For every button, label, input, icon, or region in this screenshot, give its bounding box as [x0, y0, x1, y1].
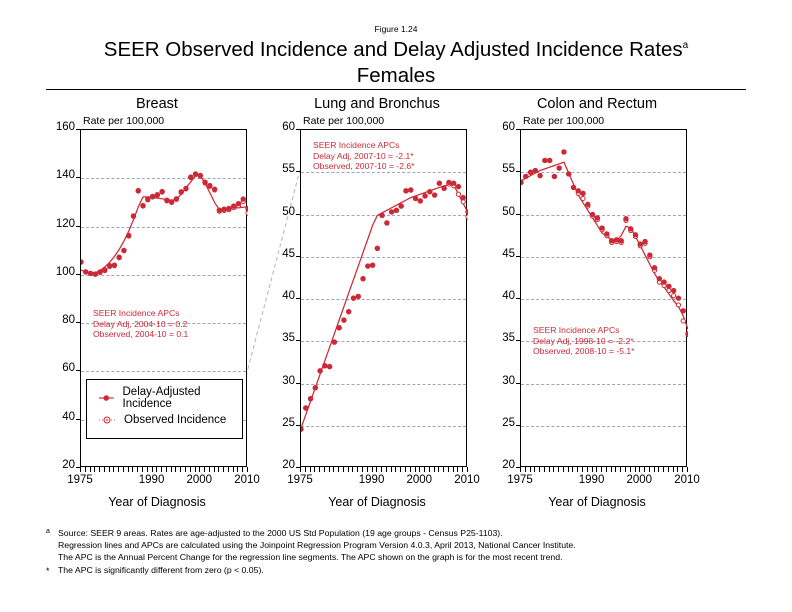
delay-adjusted-point: [231, 203, 236, 208]
delay-adjusted-point: [370, 263, 375, 268]
delay-adjusted-point: [207, 183, 212, 188]
footnote-line: *The APC is significantly different from…: [46, 564, 756, 576]
y-tick-label: 45: [267, 248, 295, 260]
delay-adjusted-point: [446, 180, 451, 185]
delay-adjusted-point: [303, 405, 308, 410]
x-tick-mark: [362, 467, 363, 472]
y-tick-label: 120: [47, 218, 75, 230]
delay-adjusted-point: [212, 186, 217, 191]
observed-point: [246, 211, 248, 215]
x-tick-mark: [534, 467, 535, 472]
delay-adjusted-point: [174, 196, 179, 201]
x-tick-mark: [199, 467, 200, 472]
y-tick-label: 160: [47, 121, 75, 133]
x-tick-mark: [668, 467, 669, 472]
delay-adjusted-point: [676, 295, 681, 300]
x-tick-mark: [443, 467, 444, 472]
chart-panel-breast: BreastRate per 100,000SEER Incidence APC…: [47, 96, 267, 516]
x-tick-mark: [247, 467, 248, 472]
x-tick-mark: [558, 467, 559, 472]
x-tick-mark: [175, 467, 176, 472]
delay-adjusted-point: [97, 269, 102, 274]
apc-annotation-line1: SEER Incidence APCs: [313, 140, 415, 151]
x-tick-label: 2010: [447, 474, 487, 486]
delay-adjusted-point: [88, 271, 93, 276]
plot-area: SEER Incidence APCsDelay Adj, 2007-10 = …: [300, 129, 467, 467]
x-tick-mark: [620, 467, 621, 472]
y-tick-label: 40: [47, 411, 75, 423]
delay-adjusted-point: [107, 263, 112, 268]
x-tick-mark: [453, 467, 454, 472]
delay-adjusted-point: [356, 294, 361, 299]
delay-adjusted-point: [638, 241, 643, 246]
x-tick-label: 2000: [399, 474, 439, 486]
delay-adjusted-point: [604, 231, 609, 236]
delay-adjusted-point: [537, 173, 542, 178]
delay-adjusted-point: [561, 149, 566, 154]
delay-adjusted-point: [422, 193, 427, 198]
y-axis-unit-label: Rate per 100,000: [83, 115, 164, 127]
y-tick-label: 40: [267, 290, 295, 302]
delay-adjusted-point: [595, 215, 600, 220]
x-tick-mark: [462, 467, 463, 472]
y-tick-mark: [76, 322, 80, 323]
y-tick-mark: [516, 171, 520, 172]
delay-adjusted-point: [365, 263, 370, 268]
delay-adjusted-point: [169, 199, 174, 204]
x-tick-mark: [654, 467, 655, 472]
x-tick-mark: [520, 467, 521, 472]
series-layer: [301, 130, 468, 468]
observed-point: [461, 200, 465, 204]
y-tick-label: 40: [487, 290, 515, 302]
x-tick-mark: [572, 467, 573, 472]
x-tick-mark: [233, 467, 234, 472]
x-tick-mark: [305, 467, 306, 472]
y-tick-mark: [76, 226, 80, 227]
delay-adjusted-point: [432, 192, 437, 197]
x-tick-mark: [601, 467, 602, 472]
x-tick-label: 1975: [500, 474, 540, 486]
y-tick-label: 30: [487, 375, 515, 387]
y-tick-mark: [516, 129, 520, 130]
x-tick-mark: [99, 467, 100, 472]
y-tick-label: 35: [487, 332, 515, 344]
x-tick-mark: [156, 467, 157, 472]
y-tick-mark: [516, 425, 520, 426]
title-line-2: Females: [357, 64, 436, 87]
x-tick-mark: [166, 467, 167, 472]
x-tick-mark: [209, 467, 210, 472]
x-tick-mark: [630, 467, 631, 472]
delay-adjusted-point: [193, 171, 198, 176]
delay-adjusted-point: [351, 295, 356, 300]
observed-point: [667, 288, 671, 292]
x-axis-title: Year of Diagnosis: [47, 495, 267, 509]
delay-adjusted-point: [155, 192, 160, 197]
y-tick-label: 45: [487, 248, 515, 260]
delay-adjusted-point: [159, 189, 164, 194]
delay-adjusted-point: [217, 207, 222, 212]
delay-adjusted-point: [126, 233, 131, 238]
observed-point: [672, 294, 676, 298]
x-axis-title: Year of Diagnosis: [267, 495, 487, 509]
delay-adjusted-point: [226, 206, 231, 211]
delay-adjusted-point: [360, 276, 365, 281]
x-tick-mark: [673, 467, 674, 472]
y-tick-mark: [76, 370, 80, 371]
delay-adjusted-point: [427, 189, 432, 194]
x-tick-mark: [544, 467, 545, 472]
x-tick-label: 2000: [619, 474, 659, 486]
delay-adjusted-point: [188, 174, 193, 179]
delay-adjusted-point: [164, 198, 169, 203]
x-tick-mark: [429, 467, 430, 472]
y-axis-unit-label: Rate per 100,000: [523, 115, 604, 127]
y-tick-label: 60: [47, 362, 75, 374]
footnote-line: The APC is the Annual Percent Change for…: [46, 551, 756, 563]
delay-adjusted-point: [408, 187, 413, 192]
delay-adjusted-point: [456, 184, 461, 189]
delay-adjusted-point: [313, 385, 318, 390]
delay-adjusted-point: [379, 213, 384, 218]
x-tick-mark: [357, 467, 358, 472]
apc-annotation-line2: Delay Adj, 1998-10 = -2.2*: [533, 336, 635, 347]
x-tick-mark: [343, 467, 344, 472]
y-axis-unit-label: Rate per 100,000: [303, 115, 384, 127]
x-tick-mark: [639, 467, 640, 472]
delay-adjusted-point: [671, 288, 676, 293]
delay-adjusted-point: [465, 209, 468, 214]
delay-adjusted-point: [523, 174, 528, 179]
x-tick-mark: [549, 467, 550, 472]
x-tick-mark: [635, 467, 636, 472]
delay-adjusted-point: [136, 188, 141, 193]
chart-title: Lung and Bronchus: [267, 96, 487, 112]
delay-adjusted-point: [384, 220, 389, 225]
y-tick-mark: [296, 340, 300, 341]
regression-line: [301, 185, 468, 428]
x-tick-mark: [381, 467, 382, 472]
delay-adjusted-point: [590, 212, 595, 217]
delay-adjusted-point: [221, 206, 226, 211]
delay-adjusted-point: [346, 309, 351, 314]
x-tick-mark: [214, 467, 215, 472]
y-tick-label: 60: [487, 121, 515, 133]
delay-adjusted-point: [652, 265, 657, 270]
y-tick-mark: [76, 274, 80, 275]
apc-annotation-line3: Observed, 2007-10 = -2.6*: [313, 161, 415, 172]
delay-adjusted-point: [399, 203, 404, 208]
x-tick-mark: [391, 467, 392, 472]
legend-label: Observed Incidence: [124, 414, 226, 426]
series-layer: [521, 130, 688, 468]
x-tick-mark: [314, 467, 315, 472]
x-tick-mark: [367, 467, 368, 472]
x-tick-mark: [419, 467, 420, 472]
y-tick-mark: [516, 383, 520, 384]
delay-adjusted-point: [327, 364, 332, 369]
header-divider: [46, 89, 746, 90]
x-tick-mark: [80, 467, 81, 472]
apc-annotation-line1: SEER Incidence APCs: [533, 325, 635, 336]
delay-adjusted-point: [585, 202, 590, 207]
x-tick-mark: [457, 467, 458, 472]
x-tick-mark: [395, 467, 396, 472]
footnote-text: Source: SEER 9 areas. Rates are age-adju…: [58, 528, 503, 538]
y-tick-mark: [516, 340, 520, 341]
delay-adjusted-point: [461, 195, 466, 200]
x-tick-mark: [180, 467, 181, 472]
y-tick-label: 35: [267, 332, 295, 344]
x-tick-mark: [582, 467, 583, 472]
x-tick-mark: [625, 467, 626, 472]
x-tick-mark: [611, 467, 612, 472]
x-tick-mark: [90, 467, 91, 472]
legend-item-observed[interactable]: Observed Incidence: [87, 409, 242, 431]
delay-adjusted-point: [576, 188, 581, 193]
delay-adjusted-point: [521, 180, 524, 185]
y-tick-label: 100: [47, 266, 75, 278]
x-tick-mark: [415, 467, 416, 472]
x-tick-mark: [237, 467, 238, 472]
x-tick-mark: [606, 467, 607, 472]
x-tick-mark: [142, 467, 143, 472]
x-tick-mark: [85, 467, 86, 472]
y-tick-mark: [296, 129, 300, 130]
delay-adjusted-point: [633, 232, 638, 237]
x-tick-mark: [592, 467, 593, 472]
delay-adjusted-point: [403, 188, 408, 193]
delay-adjusted-point: [317, 368, 322, 373]
x-tick-mark: [410, 467, 411, 472]
y-tick-label: 20: [267, 459, 295, 471]
delay-adjusted-point: [413, 196, 418, 201]
footnote-text: The APC is significantly different from …: [58, 565, 264, 575]
delay-adjusted-point: [666, 284, 671, 289]
x-tick-mark: [658, 467, 659, 472]
x-tick-mark: [400, 467, 401, 472]
delay-adjusted-point: [202, 179, 207, 184]
title-line-1: SEER Observed Incidence and Delay Adjust…: [104, 38, 683, 61]
chart-title: Breast: [47, 96, 267, 112]
delay-adjusted-point: [332, 339, 337, 344]
y-tick-mark: [516, 298, 520, 299]
regression-line: [521, 162, 688, 329]
delay-adjusted-point: [102, 267, 107, 272]
x-tick-mark: [185, 467, 186, 472]
footnote-marker: a: [46, 526, 50, 538]
x-tick-mark: [553, 467, 554, 472]
observed-point: [456, 192, 460, 196]
x-tick-mark: [530, 467, 531, 472]
delay-adjusted-point: [81, 259, 84, 264]
x-tick-mark: [300, 467, 301, 472]
delay-adjusted-point: [556, 165, 561, 170]
delay-adjusted-point: [322, 363, 327, 368]
chart-legend: Delay-Adjusted IncidenceObserved Inciden…: [86, 379, 243, 439]
x-tick-mark: [682, 467, 683, 472]
delay-adjusted-point: [389, 209, 394, 214]
x-tick-mark: [525, 467, 526, 472]
apc-annotation-line3: Observed, 2004-10 = 0.1: [93, 329, 188, 340]
x-tick-mark: [467, 467, 468, 472]
plot-area: SEER Incidence APCsDelay Adj, 2004-10 = …: [80, 129, 247, 467]
y-tick-label: 80: [47, 314, 75, 326]
x-tick-mark: [687, 467, 688, 472]
footnote-marker: *: [46, 565, 50, 577]
legend-label: Delay-Adjusted Incidence: [123, 386, 243, 410]
y-tick-label: 20: [487, 459, 515, 471]
x-tick-mark: [596, 467, 597, 472]
x-tick-mark: [109, 467, 110, 472]
apc-annotation: SEER Incidence APCsDelay Adj, 2007-10 = …: [313, 140, 415, 172]
delay-adjusted-point: [375, 246, 380, 251]
x-tick-mark: [113, 467, 114, 472]
y-tick-label: 25: [267, 417, 295, 429]
x-tick-mark: [204, 467, 205, 472]
x-tick-mark: [539, 467, 540, 472]
delay-adjusted-point: [533, 168, 538, 173]
x-tick-label: 1990: [572, 474, 612, 486]
delay-adjusted-point: [198, 173, 203, 178]
y-tick-label: 55: [267, 163, 295, 175]
x-tick-label: 2010: [667, 474, 707, 486]
x-tick-mark: [161, 467, 162, 472]
x-tick-label: 1975: [280, 474, 320, 486]
x-tick-mark: [348, 467, 349, 472]
x-tick-mark: [128, 467, 129, 472]
delay-adjusted-point: [623, 216, 628, 221]
chart-title: Colon and Rectum: [487, 96, 707, 112]
x-tick-mark: [147, 467, 148, 472]
chart-panel-colon-and-rectum: Colon and RectumRate per 100,000SEER Inc…: [487, 96, 707, 516]
delay-adjusted-point: [647, 252, 652, 257]
delay-adjusted-point: [580, 191, 585, 196]
x-tick-mark: [587, 467, 588, 472]
delay-adjusted-point: [437, 181, 442, 186]
delay-adjusted-point: [183, 186, 188, 191]
delay-adjusted-point: [301, 426, 304, 431]
x-tick-mark: [171, 467, 172, 472]
x-tick-mark: [223, 467, 224, 472]
x-tick-mark: [218, 467, 219, 472]
y-tick-mark: [296, 298, 300, 299]
x-tick-mark: [324, 467, 325, 472]
x-tick-mark: [376, 467, 377, 472]
x-tick-mark: [386, 467, 387, 472]
y-tick-mark: [76, 177, 80, 178]
apc-annotation: SEER Incidence APCsDelay Adj, 1998-10 = …: [533, 325, 635, 357]
x-tick-mark: [123, 467, 124, 472]
x-tick-mark: [310, 467, 311, 472]
x-tick-mark: [132, 467, 133, 472]
y-tick-label: 25: [487, 417, 515, 429]
delay-adjusted-point: [571, 185, 576, 190]
y-tick-label: 60: [267, 121, 295, 133]
x-tick-mark: [663, 467, 664, 472]
x-tick-mark: [644, 467, 645, 472]
delay-adjusted-point: [552, 174, 557, 179]
y-tick-mark: [296, 425, 300, 426]
y-tick-mark: [76, 419, 80, 420]
apc-annotation-line2: Delay Adj, 2007-10 = -2.1*: [313, 151, 415, 162]
delay-adjusted-point: [609, 238, 614, 243]
chart-panel-lung-and-bronchus: Lung and BronchusRate per 100,000SEER In…: [267, 96, 487, 516]
y-tick-label: 50: [487, 206, 515, 218]
observed-point: [676, 303, 680, 307]
footnote-text: Regression lines and APCs are calculated…: [58, 540, 576, 550]
x-tick-mark: [424, 467, 425, 472]
x-tick-label: 2010: [227, 474, 267, 486]
delay-adjusted-point: [121, 248, 126, 253]
delay-adjusted-point: [628, 226, 633, 231]
x-tick-mark: [319, 467, 320, 472]
footnote-line: aSource: SEER 9 areas. Rates are age-adj…: [46, 527, 756, 539]
x-tick-mark: [104, 467, 105, 472]
delay-adjusted-point: [83, 269, 88, 274]
x-tick-mark: [372, 467, 373, 472]
delay-adjusted-point: [336, 325, 341, 330]
delay-adjusted-point: [681, 308, 686, 313]
x-tick-mark: [405, 467, 406, 472]
delay-adjusted-point: [441, 186, 446, 191]
delay-adjusted-point: [179, 189, 184, 194]
x-tick-mark: [137, 467, 138, 472]
x-tick-mark: [329, 467, 330, 472]
delay-adjusted-point: [241, 196, 246, 201]
delay-adjusted-point: [93, 271, 98, 276]
delay-adjusted-point: [619, 238, 624, 243]
delay-adjusted-point: [341, 317, 346, 322]
footnote-text: The APC is the Annual Percent Change for…: [58, 552, 562, 562]
x-tick-mark: [563, 467, 564, 472]
delay-adjusted-point: [150, 194, 155, 199]
apc-annotation-line3: Observed, 2008-10 = -5.1*: [533, 346, 635, 357]
y-tick-label: 140: [47, 169, 75, 181]
apc-annotation: SEER Incidence APCsDelay Adj, 2004-10 = …: [93, 308, 188, 340]
x-tick-label: 2000: [179, 474, 219, 486]
y-tick-label: 55: [487, 163, 515, 175]
observed-point: [466, 215, 468, 219]
legend-item-delay-adjusted[interactable]: Delay-Adjusted Incidence: [87, 387, 242, 409]
delay-adjusted-point: [131, 213, 136, 218]
delay-adjusted-point: [542, 158, 547, 163]
observed-point: [681, 319, 685, 323]
x-tick-mark: [568, 467, 569, 472]
plot-area: SEER Incidence APCsDelay Adj, 1998-10 = …: [520, 129, 687, 467]
x-tick-mark: [448, 467, 449, 472]
delay-adjusted-point: [308, 396, 313, 401]
delay-adjusted-point: [451, 181, 456, 186]
delay-adjusted-point: [140, 203, 145, 208]
x-tick-mark: [190, 467, 191, 472]
x-tick-mark: [649, 467, 650, 472]
y-tick-label: 20: [47, 459, 75, 471]
x-tick-label: 1990: [352, 474, 392, 486]
delay-adjusted-point: [116, 255, 121, 260]
apc-annotation-line2: Delay Adj, 2004-10 = 0.2: [93, 319, 188, 330]
delay-adjusted-point: [657, 276, 662, 281]
x-tick-label: 1990: [132, 474, 172, 486]
y-tick-mark: [296, 256, 300, 257]
delay-adjusted-point: [566, 171, 571, 176]
x-tick-mark: [118, 467, 119, 472]
delay-adjusted-point: [547, 158, 552, 163]
open-circle-icon: [98, 414, 116, 426]
x-tick-mark: [577, 467, 578, 472]
y-tick-label: 50: [267, 206, 295, 218]
